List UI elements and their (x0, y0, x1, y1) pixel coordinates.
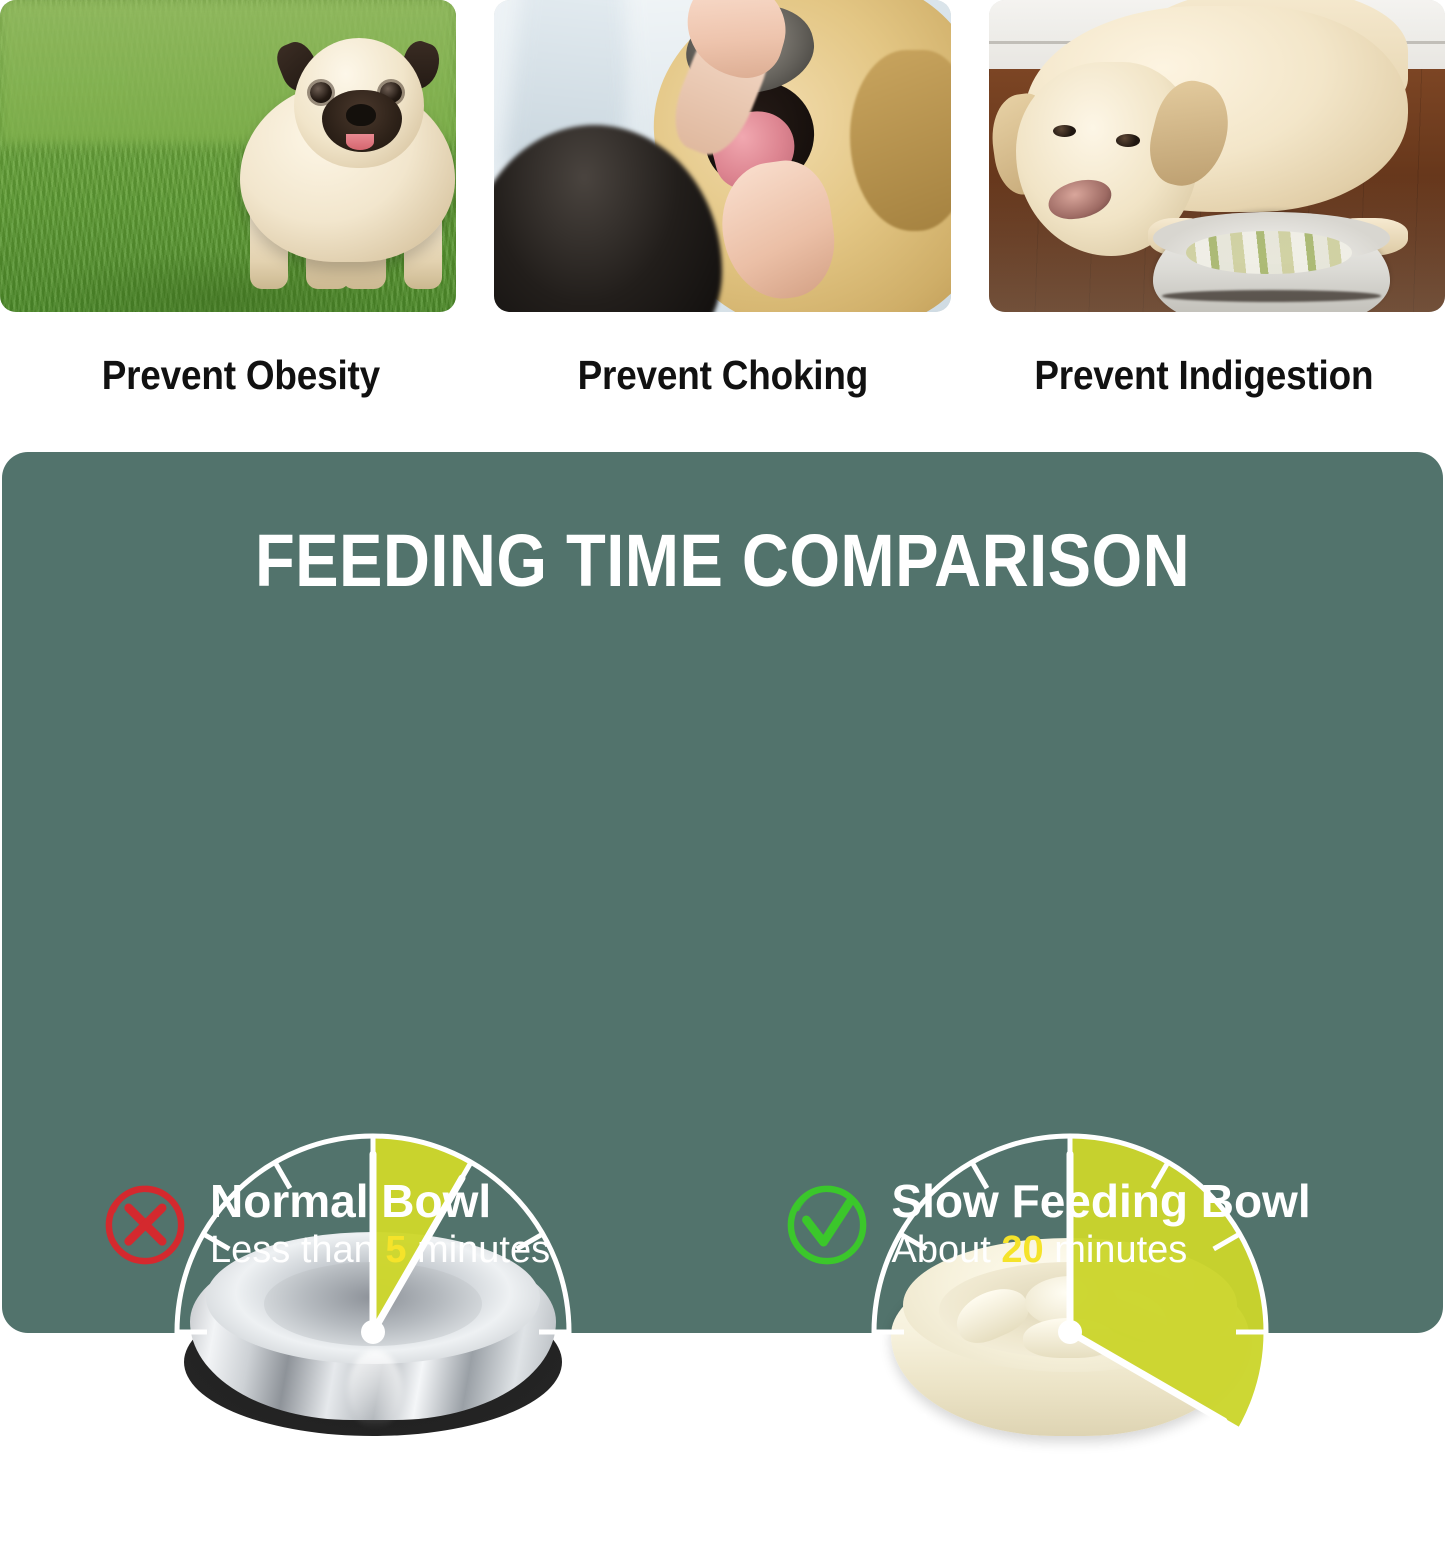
photo-card-prevent-choking (494, 0, 950, 312)
benefit-caption-row: Prevent Obesity Prevent Choking Prevent … (0, 312, 1445, 438)
caption-prevent-choking: Prevent Choking (506, 312, 940, 438)
legend-text-block: Normal Bowl Less than 5 minutes (210, 1178, 550, 1272)
legend-sub-slow: About 20 minutes (892, 1228, 1311, 1272)
legend-text-block: Slow Feeding Bowl About 20 minutes (892, 1178, 1311, 1272)
green-check-circle-icon (784, 1182, 870, 1268)
clock-center-hub (1058, 1320, 1082, 1344)
pug-nose (346, 104, 376, 126)
red-x-circle-icon (102, 1182, 188, 1268)
photo-obesity-pug (0, 0, 456, 312)
pug-dog (218, 30, 456, 295)
bowl-base-ring (1162, 290, 1380, 302)
panel-title: FEEDING TIME COMPARISON (88, 518, 1356, 603)
comparison-legend: Normal Bowl Less than 5 minutes Slow Fee… (2, 1159, 1443, 1291)
legend-sub-prefix: About (892, 1229, 1002, 1271)
benefit-photo-row (0, 0, 1445, 312)
bowl-food (1186, 231, 1352, 274)
legend-sub-normal: Less than 5 minutes (210, 1228, 550, 1272)
caption-prevent-indigestion: Prevent Indigestion (987, 312, 1421, 438)
legend-sub-prefix: Less than (210, 1229, 385, 1271)
legend-normal-bowl: Normal Bowl Less than 5 minutes (2, 1159, 762, 1291)
legend-title-slow: Slow Feeding Bowl (892, 1178, 1311, 1226)
legend-title-normal: Normal Bowl (210, 1178, 550, 1226)
legend-slow-bowl: Slow Feeding Bowl About 20 minutes (762, 1159, 1444, 1291)
photo-card-prevent-obesity (0, 0, 456, 312)
legend-sub-suffix: minutes (1044, 1229, 1188, 1271)
photo-indigestion-lab (989, 0, 1445, 312)
feeding-bowl (1153, 212, 1390, 312)
labrador-eye (1116, 134, 1140, 146)
caption-prevent-obesity: Prevent Obesity (24, 312, 458, 438)
photo-card-prevent-indigestion (989, 0, 1445, 312)
pug-eye (310, 82, 332, 103)
legend-sub-value: 20 (1001, 1229, 1043, 1271)
legend-sub-suffix: minutes (406, 1229, 550, 1271)
photo-choking-dog-mouth (494, 0, 950, 312)
clock-center-hub (361, 1320, 385, 1344)
feeding-time-comparison-panel: FEEDING TIME COMPARISON (2, 452, 1443, 1333)
pug-tongue (346, 134, 374, 150)
legend-sub-value: 5 (385, 1229, 406, 1271)
